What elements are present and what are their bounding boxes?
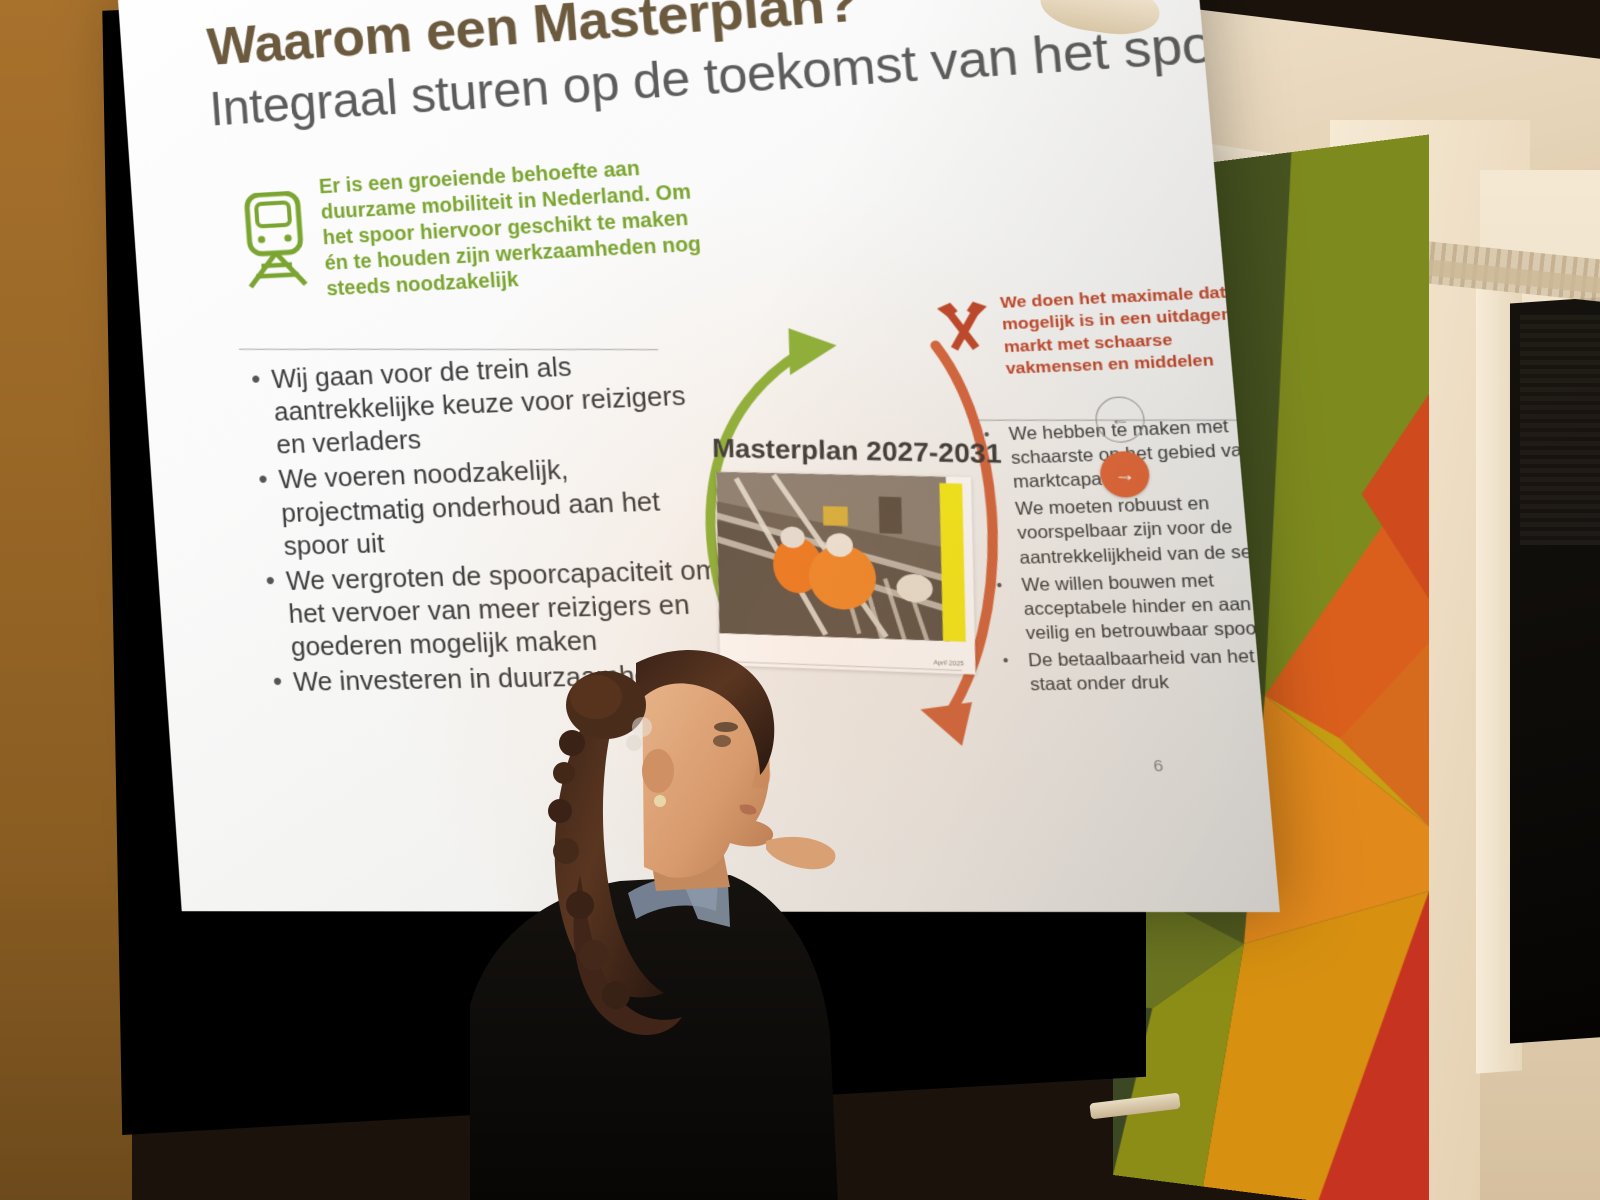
page-number: 6 — [1153, 757, 1164, 776]
masterplan-label: Masterplan 2027-2031 — [712, 434, 1002, 471]
list-item: Wij gaan voor de trein als aantrekkelijk… — [244, 345, 714, 463]
list-item: We voeren noodzakelijk, projectmatig ond… — [251, 449, 722, 564]
presenter — [430, 575, 890, 1200]
room-scene: Waarom een Masterplan? Integraal sturen … — [0, 0, 1600, 1200]
presenter-sweater — [470, 875, 838, 1200]
presenter-hand — [766, 837, 835, 869]
train-icon — [238, 190, 312, 291]
left-callout-text: Er is een groeiende behoefte aan duurzam… — [318, 152, 723, 303]
document-date: April 2025 — [933, 660, 964, 668]
window-blind — [1520, 315, 1600, 545]
yellow-highlight-bar — [939, 483, 965, 642]
